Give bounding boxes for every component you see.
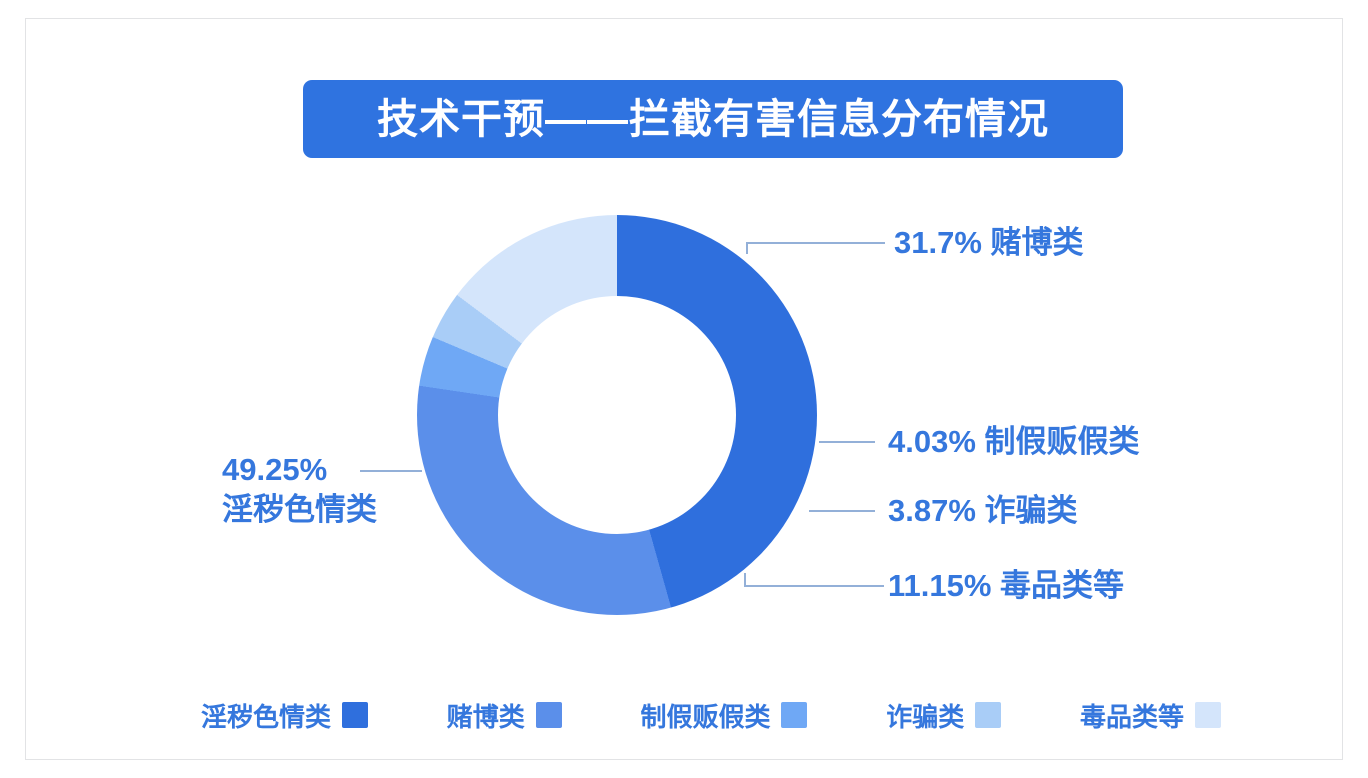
page-title: 技术干预——拦截有害信息分布情况 <box>377 99 1049 140</box>
legend-item[interactable]: 诈骗类 <box>886 697 1001 734</box>
screenshot-root: 技术干预——拦截有害信息分布情况 31.7% 赌博类 4.03% 制假贩假类 3… <box>0 0 1368 778</box>
leader-line-counterfeit <box>819 441 875 443</box>
legend-color-swatch <box>1195 702 1221 728</box>
legend-color-swatch <box>536 702 562 728</box>
leader-line-drugs <box>744 585 884 587</box>
chart-title-banner: 技术干预——拦截有害信息分布情况 <box>303 80 1123 158</box>
legend-item[interactable]: 毒品类等 <box>1080 697 1221 734</box>
callout-counterfeit: 4.03% 制假贩假类 <box>888 422 1140 462</box>
donut-chart <box>417 215 817 615</box>
legend-item-label: 毒品类等 <box>1080 697 1184 734</box>
legend-color-swatch <box>342 702 368 728</box>
callout-drugs: 11.15% 毒品类等 <box>888 566 1124 606</box>
legend-item-label: 淫秽色情类 <box>201 697 331 734</box>
legend-item-label: 诈骗类 <box>886 697 964 734</box>
leader-elbow-gambling <box>746 242 748 254</box>
chart-legend: 淫秽色情类赌博类制假贩假类诈骗类毒品类等 <box>201 695 1221 735</box>
donut-center-hole <box>498 296 736 534</box>
legend-color-swatch <box>975 702 1001 728</box>
leader-line-gambling <box>746 242 885 244</box>
callout-porn: 49.25% 淫秽色情类 <box>222 450 377 529</box>
legend-item[interactable]: 制假贩假类 <box>640 697 807 734</box>
chart-card: 技术干预——拦截有害信息分布情况 31.7% 赌博类 4.03% 制假贩假类 3… <box>25 18 1343 760</box>
callout-fraud: 3.87% 诈骗类 <box>888 491 1078 531</box>
callout-porn-percent: 49.25% <box>222 452 327 487</box>
legend-item[interactable]: 赌博类 <box>447 697 562 734</box>
leader-line-fraud <box>809 510 875 512</box>
legend-color-swatch <box>781 702 807 728</box>
legend-item-label: 制假贩假类 <box>640 697 770 734</box>
legend-item-label: 赌博类 <box>447 697 525 734</box>
legend-item[interactable]: 淫秽色情类 <box>201 697 368 734</box>
callout-gambling: 31.7% 赌博类 <box>894 223 1084 263</box>
callout-porn-name: 淫秽色情类 <box>222 492 377 527</box>
leader-elbow-drugs <box>744 573 746 586</box>
